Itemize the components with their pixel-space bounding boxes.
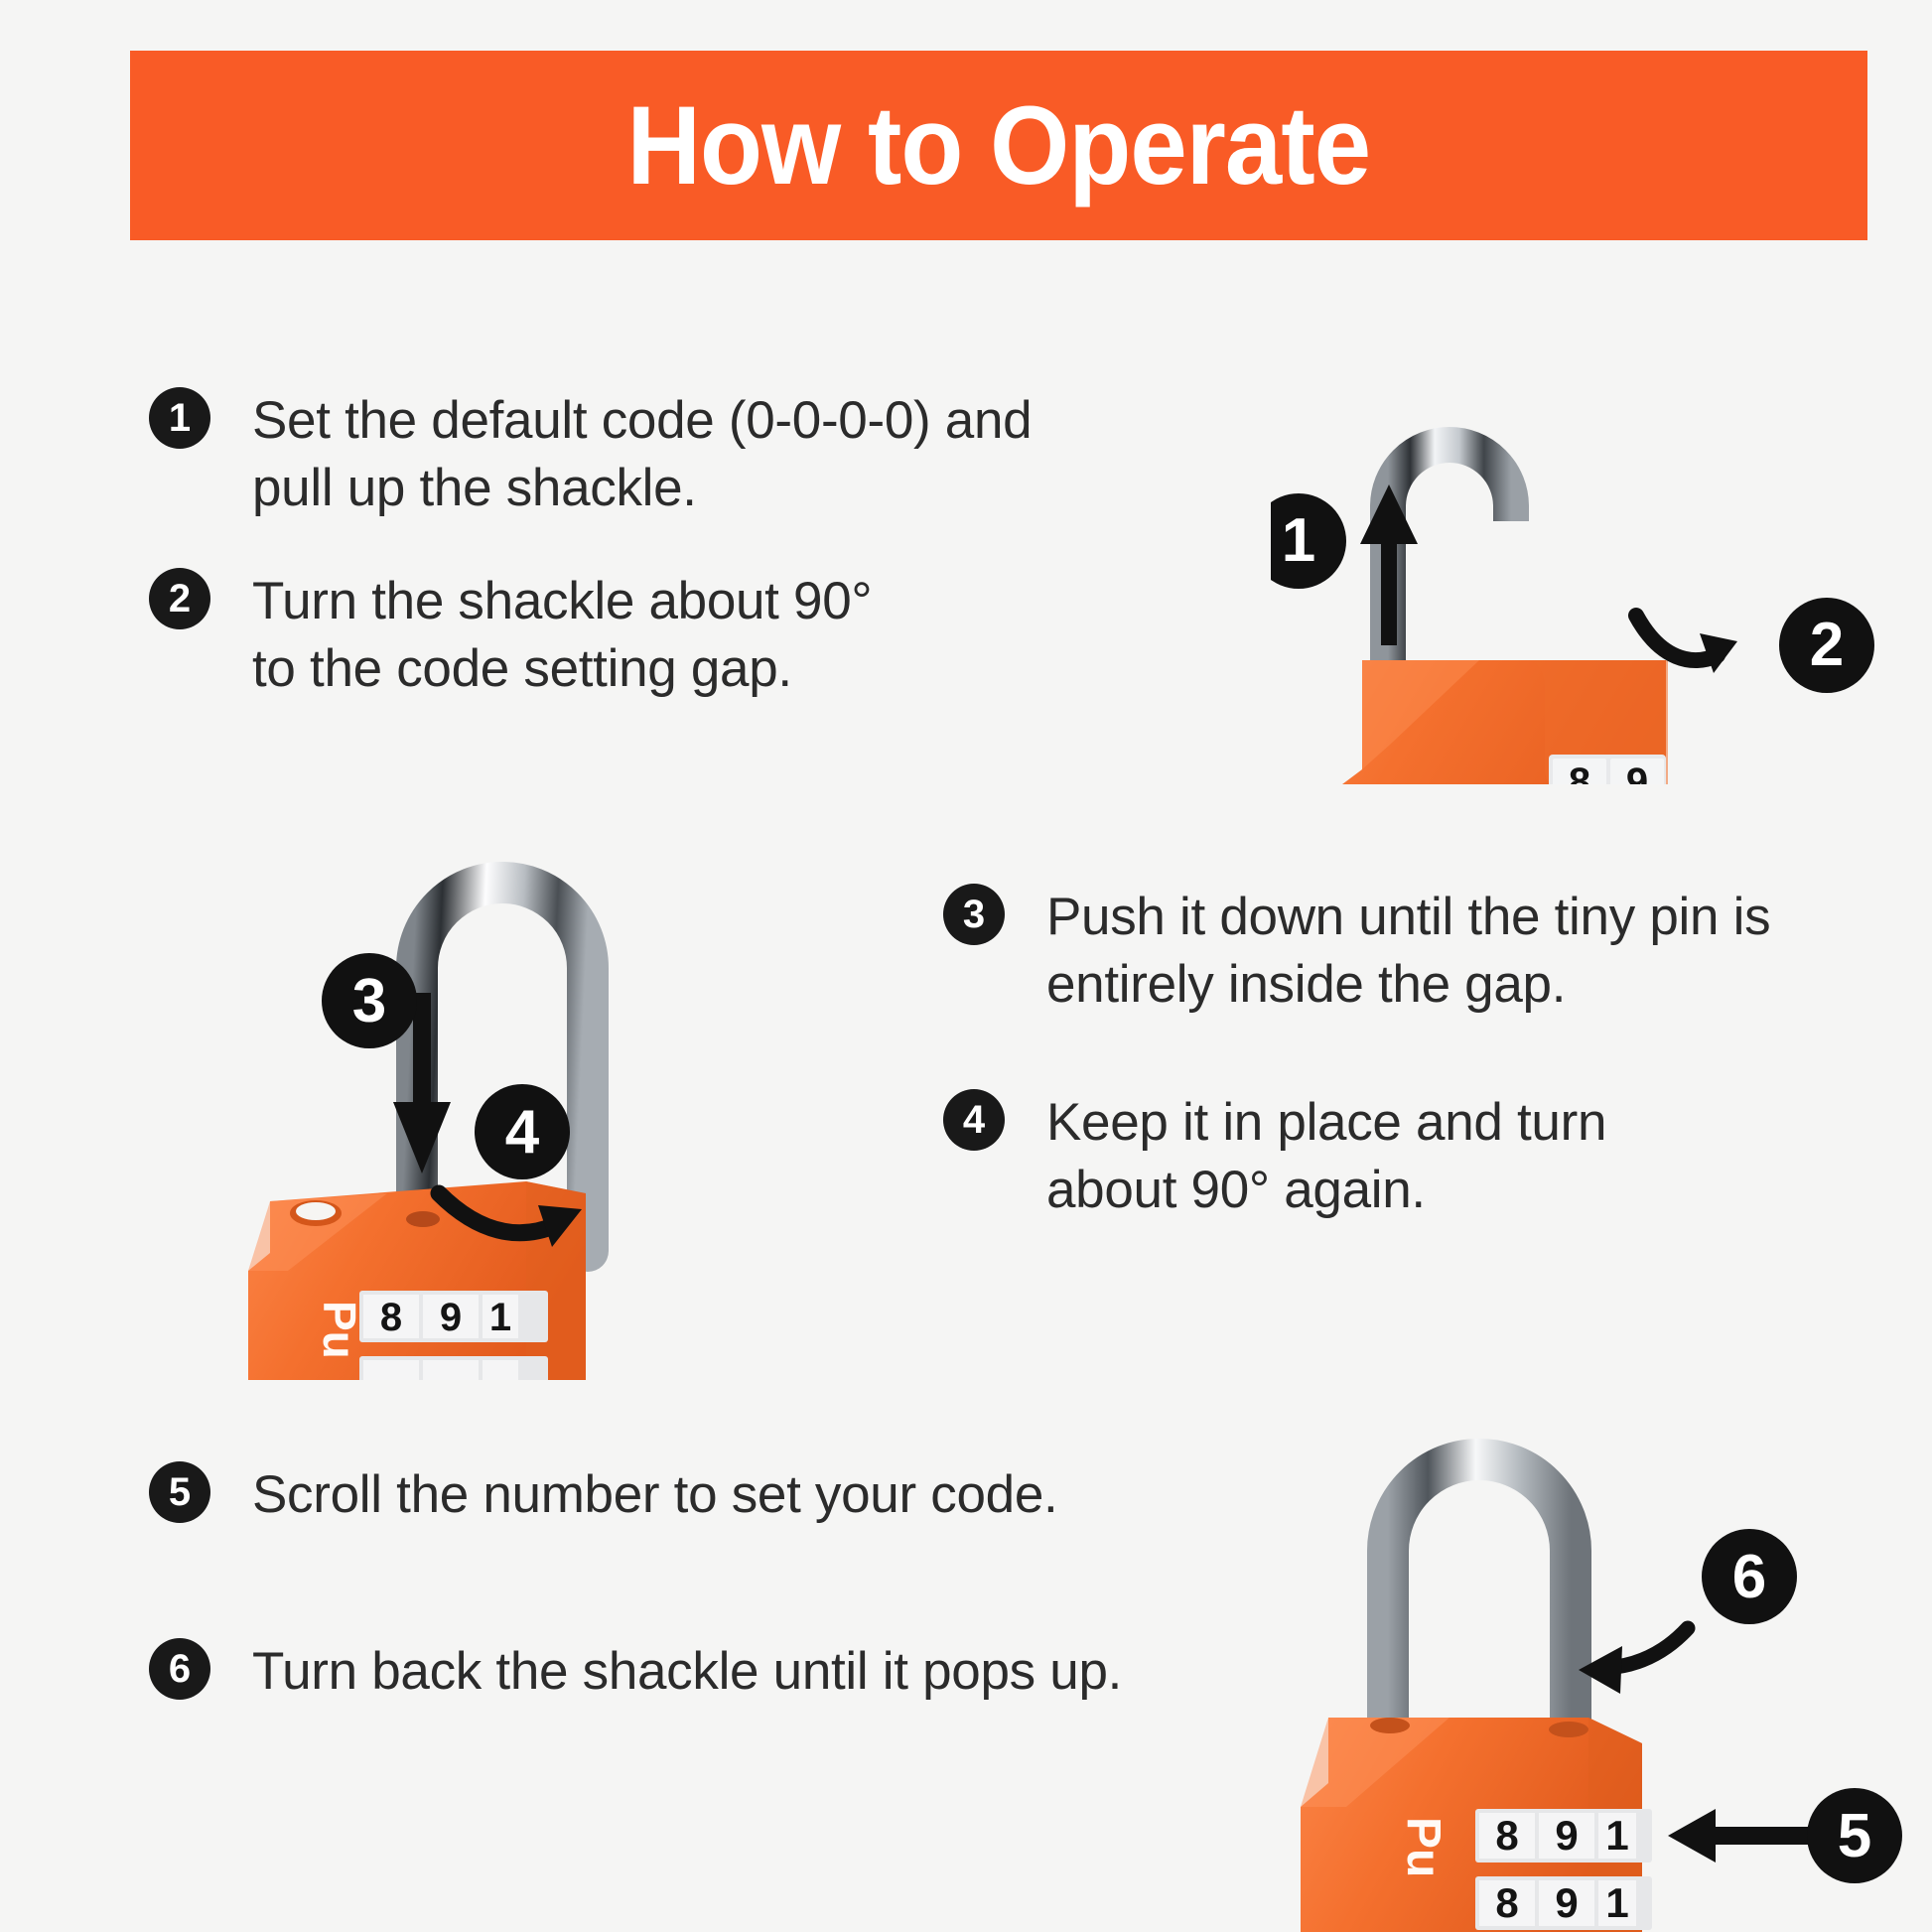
dial-top-digit-3: 1 [1605, 1812, 1628, 1859]
padlock-illustration-2: 8 9 1 Pu 3 [228, 804, 903, 1380]
arrow-left-icon [1668, 1809, 1809, 1863]
dial-bottom-digit-2: 9 [1555, 1879, 1578, 1926]
dial-digit-2: 9 [440, 1296, 462, 1339]
dial-bottom-digit-1: 8 [1495, 1879, 1518, 1926]
marker-6: 6 [1702, 1529, 1797, 1624]
arrow-up-icon [1360, 484, 1418, 645]
step-badge-1: 1 [149, 387, 210, 449]
svg-text:6: 6 [1732, 1543, 1766, 1611]
step-badge-6: 6 [149, 1638, 210, 1700]
step-item-5: 5 Scroll the number to set your code. [149, 1461, 1057, 1529]
marker-2: 2 [1779, 598, 1874, 693]
curved-arrow-left-icon [1579, 1628, 1688, 1694]
step-badge-5: 5 [149, 1461, 210, 1523]
dial-top-digit-2: 9 [1555, 1812, 1578, 1859]
padlock-dials: 8 9 1 [359, 1291, 548, 1380]
step-text-4: Keep it in place and turn about 90° agai… [1046, 1089, 1606, 1224]
svg-text:1: 1 [1282, 506, 1315, 575]
step-badge-4: 4 [943, 1089, 1005, 1151]
padlock-illustration-1: 8 9 Pu 1 2 [1271, 318, 1906, 784]
step-text-3: Push it down until the tiny pin is entir… [1046, 884, 1770, 1019]
step-badge-3: 3 [943, 884, 1005, 945]
svg-text:5: 5 [1838, 1802, 1871, 1870]
step-text-6: Turn back the shackle until it pops up. [252, 1638, 1122, 1706]
step-item-4: 4 Keep it in place and turn about 90° ag… [943, 1089, 1606, 1224]
step-item-2: 2 Turn the shackle about 90° to the code… [149, 568, 872, 703]
header-banner: How to Operate [130, 51, 1867, 240]
svg-text:3: 3 [352, 967, 386, 1035]
step-badge-2: 2 [149, 568, 210, 629]
padlock-illustration-3: 8 9 1 8 9 1 Pu [1261, 1380, 1916, 1932]
dial-digit-1: 8 [1569, 760, 1590, 784]
dial-digit-1: 8 [380, 1296, 402, 1339]
dial-digit-2: 9 [1626, 760, 1648, 784]
svg-text:4: 4 [505, 1098, 540, 1167]
infographic-canvas: How to Operate 1 Set the default code (0… [0, 0, 1932, 1932]
marker-1: 1 [1271, 493, 1346, 589]
svg-text:2: 2 [1810, 611, 1844, 679]
step-text-1: Set the default code (0-0-0-0) and pull … [252, 387, 1032, 522]
padlock-dials: 8 9 [1549, 755, 1666, 784]
step-item-1: 1 Set the default code (0-0-0-0) and pul… [149, 387, 1032, 522]
step-text-5: Scroll the number to set your code. [252, 1461, 1057, 1529]
padlock-shackle [1388, 1459, 1571, 1727]
brand-label: Pu [314, 1301, 365, 1359]
step-item-3: 3 Push it down until the tiny pin is ent… [943, 884, 1770, 1019]
brand-label: Pu [1397, 1817, 1449, 1877]
step-item-6: 6 Turn back the shackle until it pops up… [149, 1638, 1122, 1706]
step-text-2: Turn the shackle about 90° to the code s… [252, 568, 872, 703]
marker-5: 5 [1807, 1788, 1902, 1883]
page-title: How to Operate [627, 90, 1371, 202]
dial-bottom-digit-3: 1 [1605, 1879, 1628, 1926]
dial-top-digit-1: 8 [1495, 1812, 1518, 1859]
dial-digit-3: 1 [489, 1296, 511, 1339]
marker-3: 3 [322, 953, 417, 1048]
padlock-shackle [1388, 328, 1613, 665]
marker-4: 4 [475, 1084, 570, 1179]
padlock-body [248, 1181, 586, 1380]
